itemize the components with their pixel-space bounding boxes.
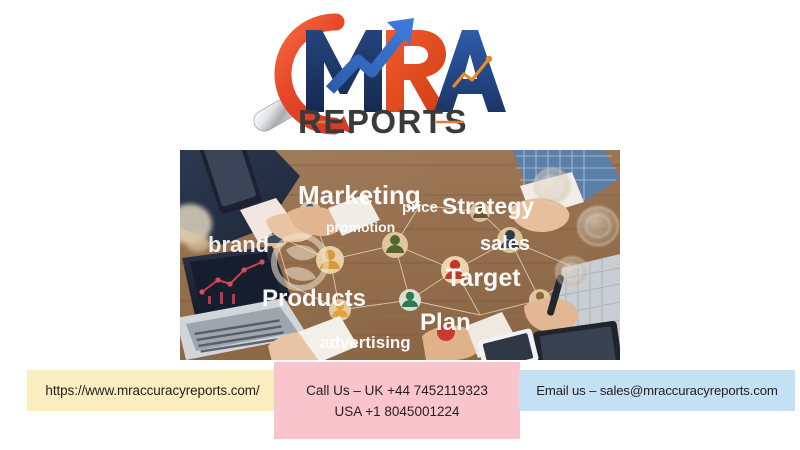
brand-logo: REPORTS — [248, 4, 518, 144]
word-target: Target — [446, 264, 521, 292]
logo-letter-a — [434, 30, 506, 112]
phone-band[interactable]: Call Us – UK +44 7452119323 USA +1 80450… — [274, 362, 520, 439]
word-products: Products — [262, 285, 366, 312]
phone-uk-text: Call Us – UK +44 7452119323 — [306, 380, 488, 401]
logo-subtitle-group: REPORTS — [298, 103, 468, 140]
word-strategy: Strategy — [442, 193, 534, 219]
email-band[interactable]: Email us – sales@mraccuracyreports.com — [519, 370, 795, 411]
website-band[interactable]: https://www.mraccuracyreports.com/ — [27, 370, 278, 411]
email-address-text: Email us – sales@mraccuracyreports.com — [536, 383, 777, 398]
word-plan: Plan — [420, 309, 471, 336]
hero-marketing-photo: Marketing price promotion brand Strategy… — [180, 150, 620, 360]
word-sales: sales — [480, 233, 530, 255]
hero-photo-graphic: Marketing price promotion brand Strategy… — [180, 150, 620, 360]
website-url-text: https://www.mraccuracyreports.com/ — [45, 383, 259, 398]
phone-usa-text: USA +1 8045001224 — [335, 401, 460, 422]
word-price: price — [402, 199, 438, 216]
brand-logo-graphic: REPORTS — [248, 4, 518, 144]
contact-bar: https://www.mraccuracyreports.com/ Call … — [0, 360, 800, 450]
word-promotion: promotion — [326, 219, 395, 235]
word-brand: brand — [208, 232, 269, 257]
word-advertising: advertising — [320, 333, 411, 352]
